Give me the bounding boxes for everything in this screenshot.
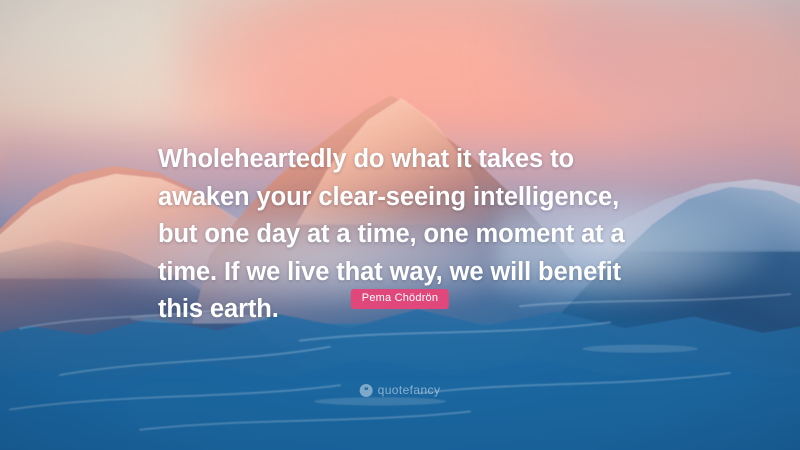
watermark: ❝ quotefancy	[360, 384, 441, 397]
quote-poster: Wholeheartedly do what it takes to awake…	[0, 0, 800, 450]
quote-mark-icon: ❝	[360, 384, 373, 397]
author-badge: Pema Chödrön	[351, 289, 449, 309]
watermark-brand: quotefancy	[378, 384, 441, 397]
poster-content: Wholeheartedly do what it takes to awake…	[0, 0, 800, 450]
